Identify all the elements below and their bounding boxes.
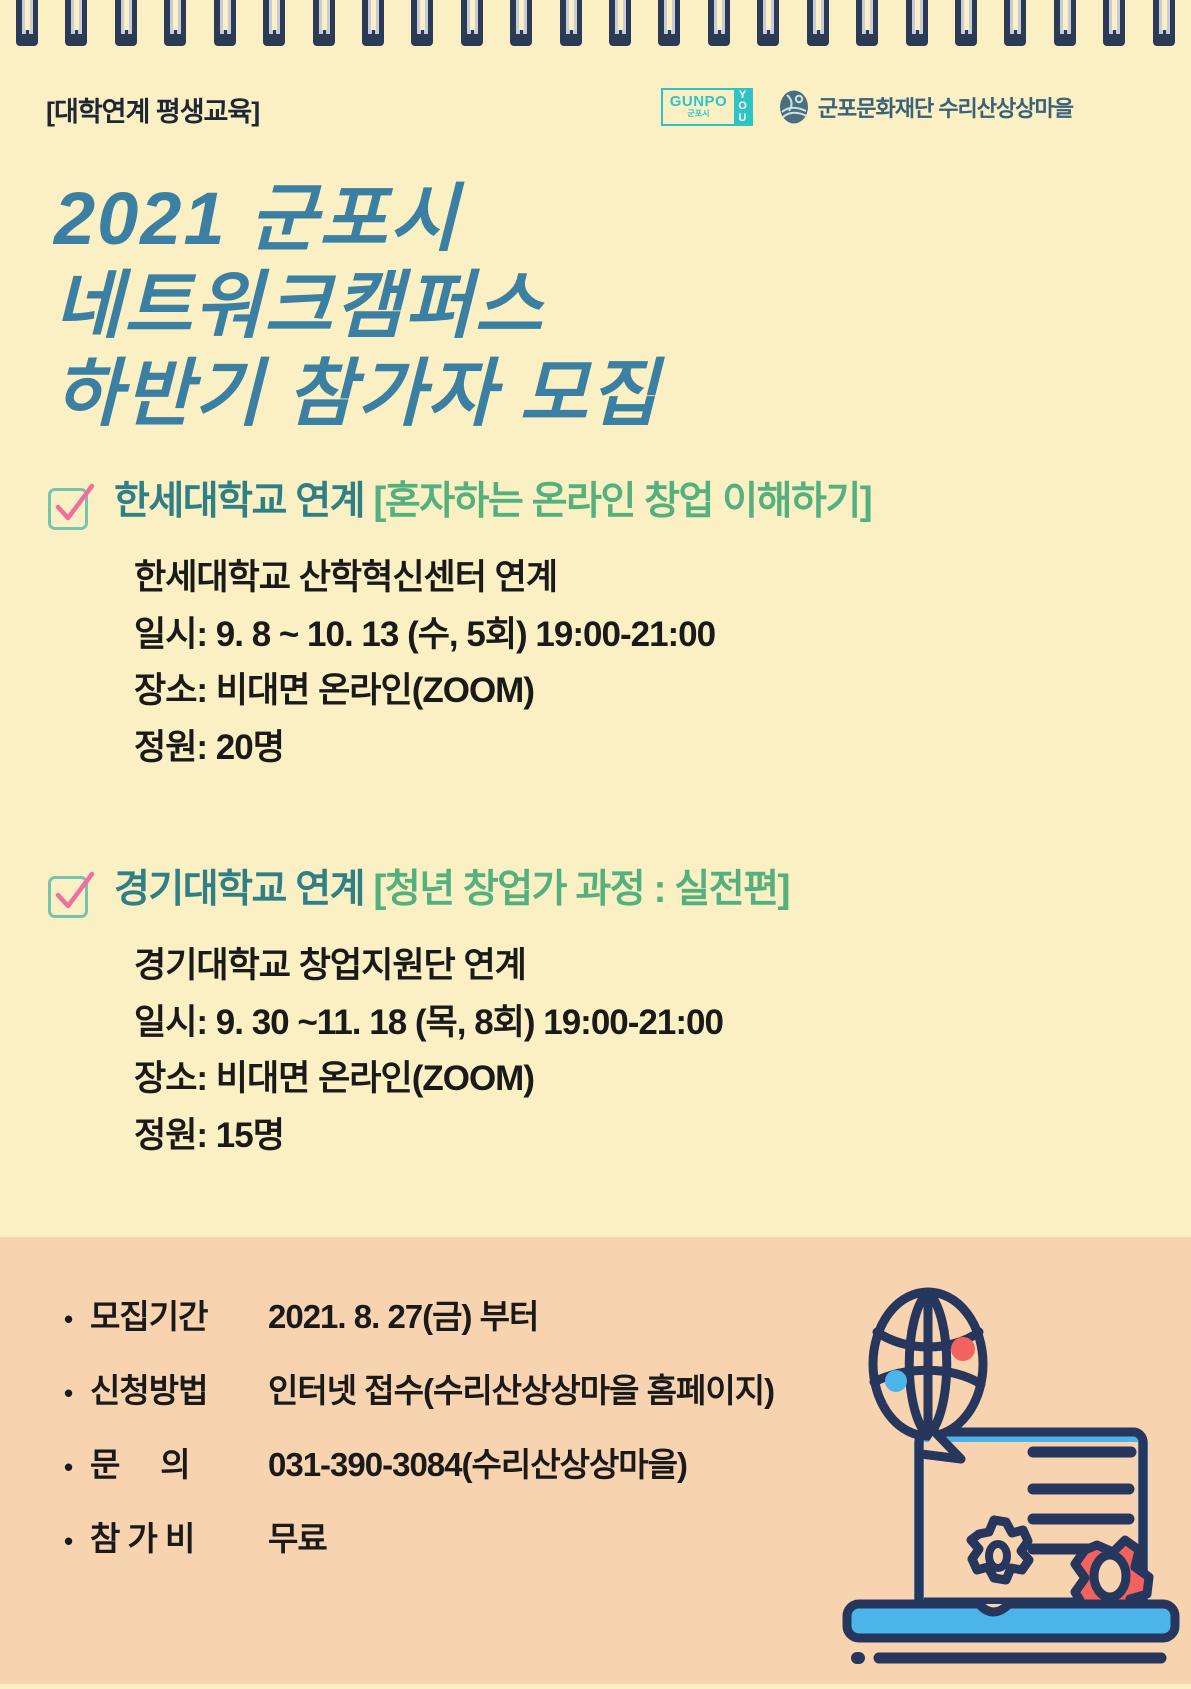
course-2-details: 경기대학교 창업지원단 연계 일시: 9. 30 ~11. 18 (목, 8회)… <box>134 938 1146 1165</box>
course-1-university: 한세대학교 연계 <box>114 480 373 523</box>
info-value: 2021. 8. 27(금) 부터 <box>268 1290 884 1338</box>
page-title: 2021 군포시 네트워크캠퍼스 하반기 참가자 모집 <box>54 175 1054 437</box>
gunpo-you-logo: GUNPO 군포시 Y O U <box>661 88 753 126</box>
bullet-icon: • <box>64 1380 90 1406</box>
foundation-mark-icon <box>779 90 809 124</box>
course-2-program: [청년 창업가 과정 : 실전편] <box>373 868 789 911</box>
spiral-ring <box>755 0 781 48</box>
course-2-detail-1: 경기대학교 창업지원단 연계 <box>134 938 1146 995</box>
info-row-contact: • 문 의 031-390-3084(수리산상상마을) <box>64 1438 884 1486</box>
foundation-logo: 군포문화재단 수리산상상마을 <box>779 90 1073 124</box>
course-1-detail-1: 한세대학교 산학혁신센터 연계 <box>134 550 1146 607</box>
bullet-icon: • <box>64 1528 90 1554</box>
spiral-ring <box>1151 0 1177 48</box>
spiral-ring <box>904 0 930 48</box>
course-2-heading: 경기대학교 연계 [청년 창업가 과정 : 실전편] <box>46 868 1146 918</box>
info-value: 인터넷 접수(수리산상상마을 홈페이지) <box>268 1364 884 1412</box>
spiral-ring <box>854 0 880 48</box>
course-1-detail-3: 장소: 비대면 온라인(ZOOM) <box>134 663 1146 720</box>
spiral-ring <box>261 0 287 48</box>
spiral-ring <box>805 0 831 48</box>
info-value: 무료 <box>268 1512 884 1560</box>
bullet-icon: • <box>64 1306 90 1332</box>
spiral-ring <box>607 0 633 48</box>
gunpo-logo-text: GUNPO 군포시 <box>663 90 735 124</box>
checkbox-checked-icon <box>46 872 92 918</box>
course-1-title: 한세대학교 연계 [혼자하는 온라인 창업 이해하기] <box>114 480 871 521</box>
course-2-title: 경기대학교 연계 [청년 창업가 과정 : 실전편] <box>114 868 789 909</box>
course-2-detail-2: 일시: 9. 30 ~11. 18 (목, 8회) 19:00-21:00 <box>134 995 1146 1052</box>
title-line-1: 2021 군포시 <box>54 175 1054 262</box>
course-1-detail-2: 일시: 9. 8 ~ 10. 13 (수, 5회) 19:00-21:00 <box>134 607 1146 664</box>
course-2-university: 경기대학교 연계 <box>114 868 373 911</box>
course-1-detail-4: 정원: 20명 <box>134 720 1146 777</box>
you-letter-u: U <box>739 113 747 124</box>
spiral-ring <box>459 0 485 48</box>
globe-laptop-gears-illustration <box>811 1254 1181 1684</box>
info-value: 031-390-3084(수리산상상마을) <box>268 1438 884 1486</box>
spiral-ring <box>63 0 89 48</box>
title-line-3: 하반기 참가자 모집 <box>54 350 1054 437</box>
gunpo-logo-name: GUNPO <box>670 94 728 109</box>
info-label: 신청방법 <box>90 1364 268 1412</box>
course-block-2: 경기대학교 연계 [청년 창업가 과정 : 실전편] 경기대학교 창업지원단 연… <box>46 868 1146 1165</box>
gunpo-logo-sub: 군포시 <box>687 109 709 119</box>
you-letter-o: O <box>738 101 747 112</box>
spiral-ring <box>360 0 386 48</box>
foundation-logo-text: 군포문화재단 수리산상상마을 <box>818 91 1073 123</box>
course-1-heading: 한세대학교 연계 [혼자하는 온라인 창업 이해하기] <box>46 480 1146 530</box>
spiral-ring <box>953 0 979 48</box>
spiral-ring <box>113 0 139 48</box>
info-row-apply-method: • 신청방법 인터넷 접수(수리산상상마을 홈페이지) <box>64 1364 884 1412</box>
info-row-fee: • 참 가 비 무료 <box>64 1512 884 1560</box>
spiral-ring <box>162 0 188 48</box>
checkbox-checked-icon <box>46 484 92 530</box>
spiral-ring <box>1101 0 1127 48</box>
spiral-ring <box>1052 0 1078 48</box>
kicker-label: [대학연계 평생교육] <box>46 90 259 129</box>
course-block-1: 한세대학교 연계 [혼자하는 온라인 창업 이해하기] 한세대학교 산학혁신센터… <box>46 480 1146 777</box>
info-list: • 모집기간 2021. 8. 27(금) 부터 • 신청방법 인터넷 접수(수… <box>64 1290 884 1586</box>
info-row-recruit-period: • 모집기간 2021. 8. 27(금) 부터 <box>64 1290 884 1338</box>
spiral-ring <box>508 0 534 48</box>
spiral-ring <box>409 0 435 48</box>
gunpo-logo-you: Y O U <box>734 90 751 124</box>
spiral-ring <box>212 0 238 48</box>
info-label: 모집기간 <box>90 1290 268 1338</box>
info-label: 참 가 비 <box>90 1512 268 1560</box>
spiral-binding <box>0 0 1191 48</box>
spiral-ring <box>706 0 732 48</box>
course-2-detail-4: 정원: 15명 <box>134 1108 1146 1165</box>
spiral-ring <box>14 0 40 48</box>
bullet-icon: • <box>64 1454 90 1480</box>
spiral-ring <box>311 0 337 48</box>
course-1-details: 한세대학교 산학혁신센터 연계 일시: 9. 8 ~ 10. 13 (수, 5회… <box>134 550 1146 777</box>
course-1-program: [혼자하는 온라인 창업 이해하기] <box>373 480 871 523</box>
logo-group: GUNPO 군포시 Y O U 군포문화재단 수리산상상마을 <box>661 88 1073 126</box>
spiral-ring <box>558 0 584 48</box>
spiral-ring <box>656 0 682 48</box>
title-line-2: 네트워크캠퍼스 <box>54 262 1054 349</box>
info-label: 문 의 <box>90 1438 268 1486</box>
course-2-detail-3: 장소: 비대면 온라인(ZOOM) <box>134 1051 1146 1108</box>
spiral-ring <box>1002 0 1028 48</box>
